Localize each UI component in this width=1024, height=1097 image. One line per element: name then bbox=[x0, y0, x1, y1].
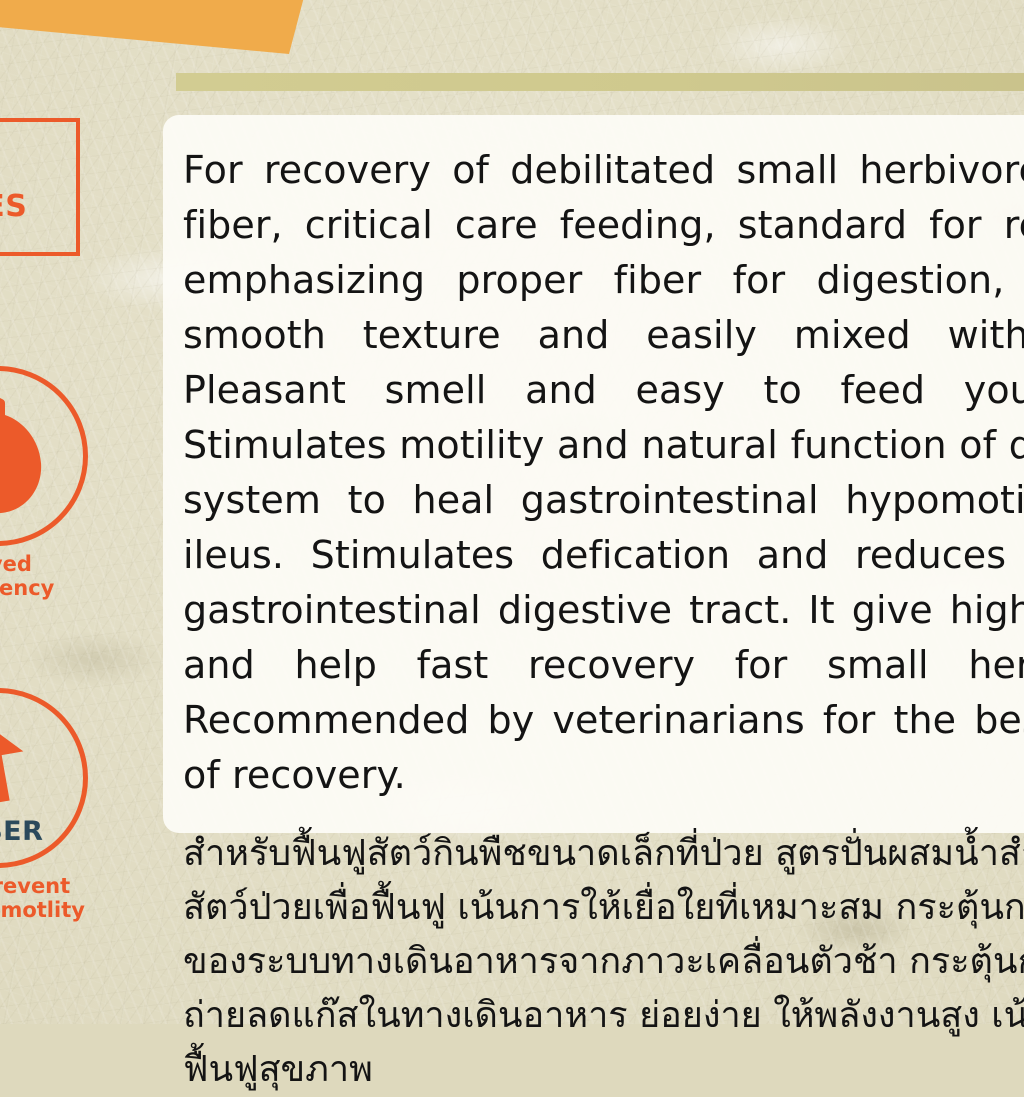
description-paragraph-thai: สำหรับฟื้นฟูสัตว์กินพืชขนาดเล็กที่ป่วย ส… bbox=[183, 827, 1024, 1097]
description-card: For recovery of debilitated small herbiv… bbox=[163, 115, 1024, 833]
fiber-arrow-leaf-icon bbox=[0, 709, 68, 829]
stomach-badge-caption-line2: Efficiency bbox=[0, 576, 54, 600]
fiber-badge-caption-line2: al Hypomotlity bbox=[0, 898, 85, 922]
fiber-badge-caption-line1: and Prevent bbox=[0, 874, 85, 898]
fiber-badge: FIBER and Prevent al Hypomotlity bbox=[0, 688, 88, 923]
olive-accent-bar bbox=[176, 73, 1024, 91]
description-paragraph-english: For recovery of debilitated small herbiv… bbox=[183, 143, 1024, 803]
fiber-badge-caption: and Prevent al Hypomotlity bbox=[0, 874, 85, 923]
herbivores-badge-line2: ORES bbox=[0, 189, 27, 224]
herbivores-badge-box: S ORES bbox=[0, 118, 80, 256]
stomach-badge-ring bbox=[0, 366, 88, 546]
stomach-badge: roved Efficiency bbox=[0, 366, 88, 601]
stomach-icon bbox=[0, 391, 63, 521]
fiber-icon-label: FIBER bbox=[0, 816, 43, 847]
stomach-badge-caption-line1: roved bbox=[0, 552, 54, 576]
stomach-badge-caption: roved Efficiency bbox=[0, 552, 54, 601]
fiber-badge-ring: FIBER bbox=[0, 688, 88, 868]
